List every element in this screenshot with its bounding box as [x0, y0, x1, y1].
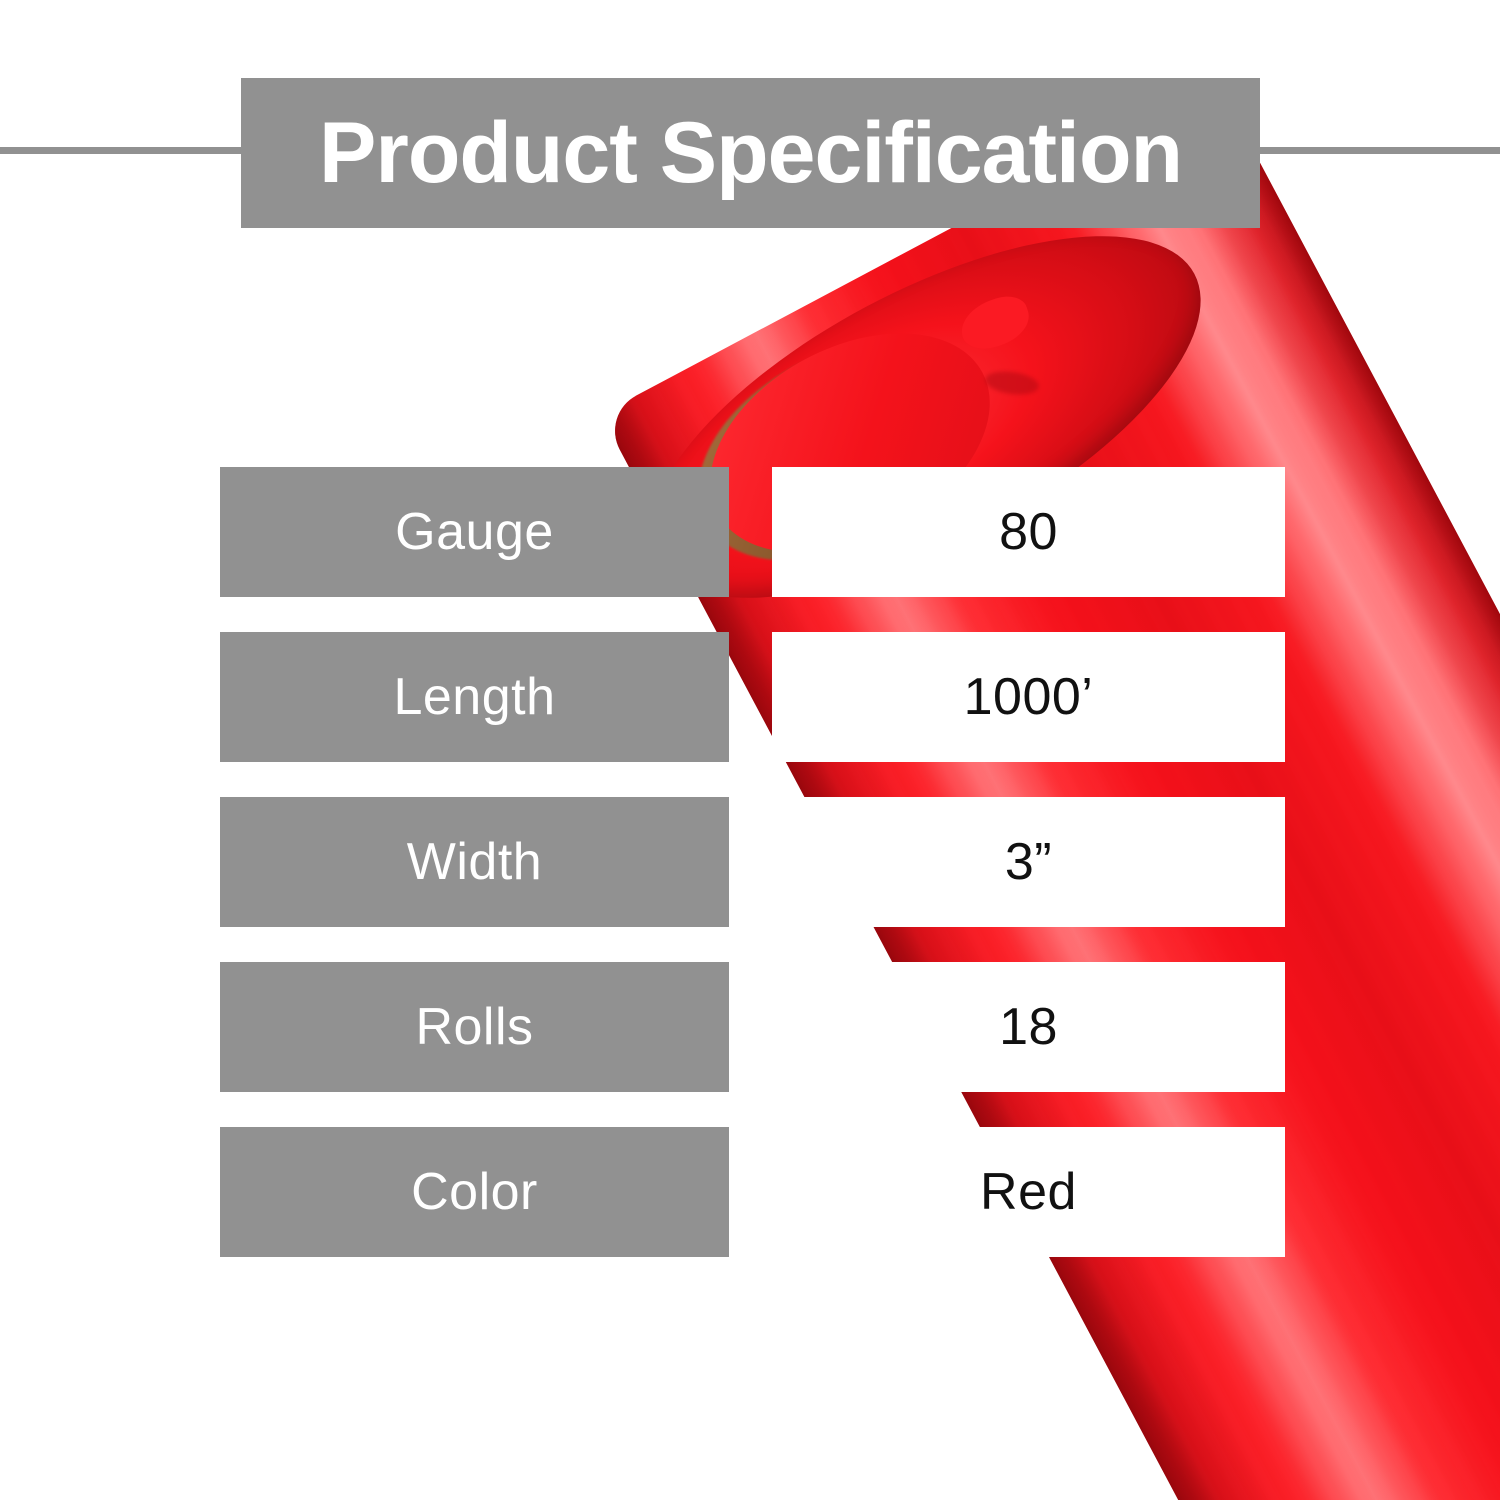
spec-label-text: Length — [393, 671, 555, 723]
table-row: Rolls 18 — [0, 962, 1500, 1092]
spec-label-cell: Color — [220, 1127, 729, 1257]
table-row: Gauge 80 — [0, 467, 1500, 597]
spec-value-cell: 80 — [772, 467, 1285, 597]
table-row: Width 3” — [0, 797, 1500, 927]
spec-value-text: 3” — [1005, 836, 1052, 888]
spec-label-cell: Width — [220, 797, 729, 927]
spec-value-cell: Red — [772, 1127, 1285, 1257]
spec-label-cell: Gauge — [220, 467, 729, 597]
spec-value-cell: 1000’ — [772, 632, 1285, 762]
spec-value-cell: 18 — [772, 962, 1285, 1092]
table-row: Length 1000’ — [0, 632, 1500, 762]
spec-value-text: 18 — [999, 1001, 1058, 1053]
table-row: Color Red — [0, 1127, 1500, 1257]
spec-label-text: Width — [407, 836, 542, 888]
spec-value-text: 80 — [999, 506, 1058, 558]
spec-value-text: Red — [980, 1166, 1077, 1218]
product-specification-card: Product Specification Gauge 80 Length 10… — [0, 0, 1500, 1500]
spec-label-cell: Length — [220, 632, 729, 762]
spec-label-text: Rolls — [415, 1001, 533, 1053]
spec-label-cell: Rolls — [220, 962, 729, 1092]
spec-value-cell: 3” — [772, 797, 1285, 927]
spec-value-text: 1000’ — [964, 671, 1094, 723]
specification-table: Gauge 80 Length 1000’ Width 3” Roll — [0, 0, 1500, 1500]
spec-label-text: Gauge — [395, 506, 554, 558]
spec-label-text: Color — [411, 1166, 538, 1218]
